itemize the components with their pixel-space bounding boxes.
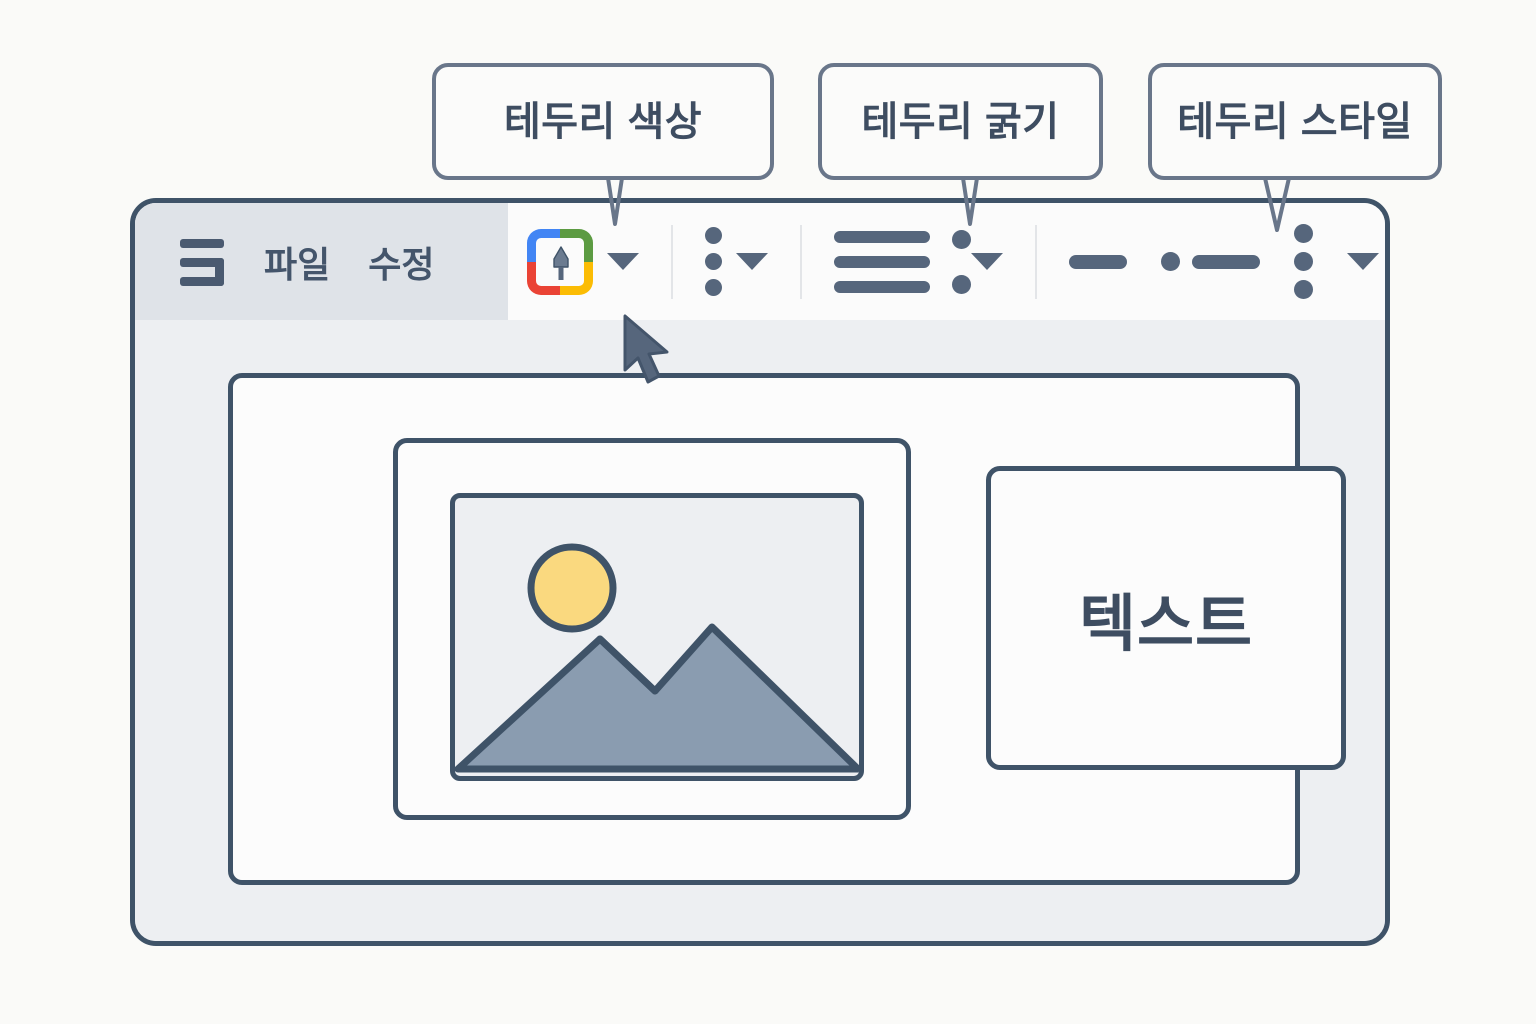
callout-border-color-tail — [560, 172, 670, 232]
callout-border-style-label: 테두리 스타일 — [1177, 102, 1412, 142]
image-art-icon — [450, 493, 864, 781]
canvas-area: 텍스트 — [135, 320, 1385, 941]
callout-border-weight-tail — [915, 172, 1025, 232]
callout-border-color-label: 테두리 색상 — [504, 102, 702, 142]
border-dash-style-icon[interactable] — [1161, 252, 1260, 271]
text-box-label: 텍스트 — [1079, 573, 1253, 663]
callout-border-weight: 테두리 굵기 — [818, 63, 1103, 180]
app-window: 파일 수정 — [130, 198, 1390, 946]
app-logo-icon — [180, 237, 226, 287]
border-dash-dots-icon[interactable] — [705, 227, 722, 296]
image-placeholder-inner — [450, 493, 864, 781]
toolbar-separator — [671, 225, 673, 299]
menu-item-edit[interactable]: 수정 — [368, 236, 434, 288]
toolbar-separator — [1035, 225, 1037, 299]
mouse-cursor — [618, 312, 674, 388]
chevron-down-icon[interactable] — [971, 253, 1003, 270]
callout-border-style: 테두리 스타일 — [1148, 63, 1442, 180]
menu-bar: 파일 수정 — [135, 203, 508, 320]
split-dots-icon[interactable] — [952, 230, 971, 294]
border-color-icon[interactable] — [527, 229, 593, 295]
callout-border-weight-label: 테두리 굵기 — [861, 102, 1059, 142]
callout-border-style-tail — [1215, 172, 1335, 240]
text-box[interactable]: 텍스트 — [986, 466, 1346, 770]
chevron-down-icon[interactable] — [736, 253, 768, 270]
document-page[interactable]: 텍스트 — [228, 373, 1300, 885]
screenshot-stage: 테두리 색상 테두리 굵기 테두리 스타일 파일 수정 — [0, 0, 1536, 1024]
toolbar: 파일 수정 — [135, 203, 1385, 320]
callout-border-color: 테두리 색상 — [432, 63, 774, 180]
toolbar-separator — [800, 225, 802, 299]
solid-dash-icon[interactable] — [1069, 255, 1127, 269]
pen-icon — [551, 245, 571, 281]
border-weight-tool[interactable] — [699, 203, 774, 320]
border-lines-icon[interactable] — [834, 231, 930, 293]
image-placeholder[interactable] — [393, 438, 911, 820]
menu-item-file[interactable]: 파일 — [264, 236, 330, 288]
chevron-down-icon[interactable] — [1347, 253, 1379, 270]
chevron-down-icon[interactable] — [607, 253, 639, 270]
